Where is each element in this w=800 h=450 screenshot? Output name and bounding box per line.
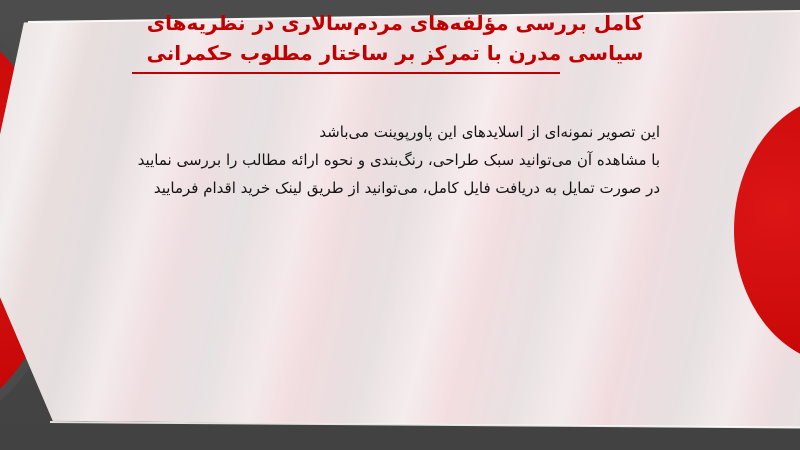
presentation-slide: کامل بررسی مؤلفه‌های مردم‌سالاری در نظری… <box>0 0 800 450</box>
body-line-3: در صورت تمایل به دریافت فایل کامل، می‌تو… <box>80 174 660 202</box>
slide-title-line-1: کامل بررسی مؤلفه‌های مردم‌سالاری در نظری… <box>135 8 655 38</box>
slide-title: کامل بررسی مؤلفه‌های مردم‌سالاری در نظری… <box>135 8 655 68</box>
body-line-2: با مشاهده آن می‌توانید سبک طراحی، رنگ‌بن… <box>80 146 660 174</box>
body-line-1: این تصویر نمونه‌ای از اسلایدهای این پاور… <box>80 118 660 146</box>
title-underline-rule <box>132 72 560 74</box>
slide-body-text: این تصویر نمونه‌ای از اسلایدهای این پاور… <box>80 118 660 202</box>
slide-title-line-2: سیاسی مدرن با تمرکز بر ساختار مطلوب حکمر… <box>135 38 655 68</box>
